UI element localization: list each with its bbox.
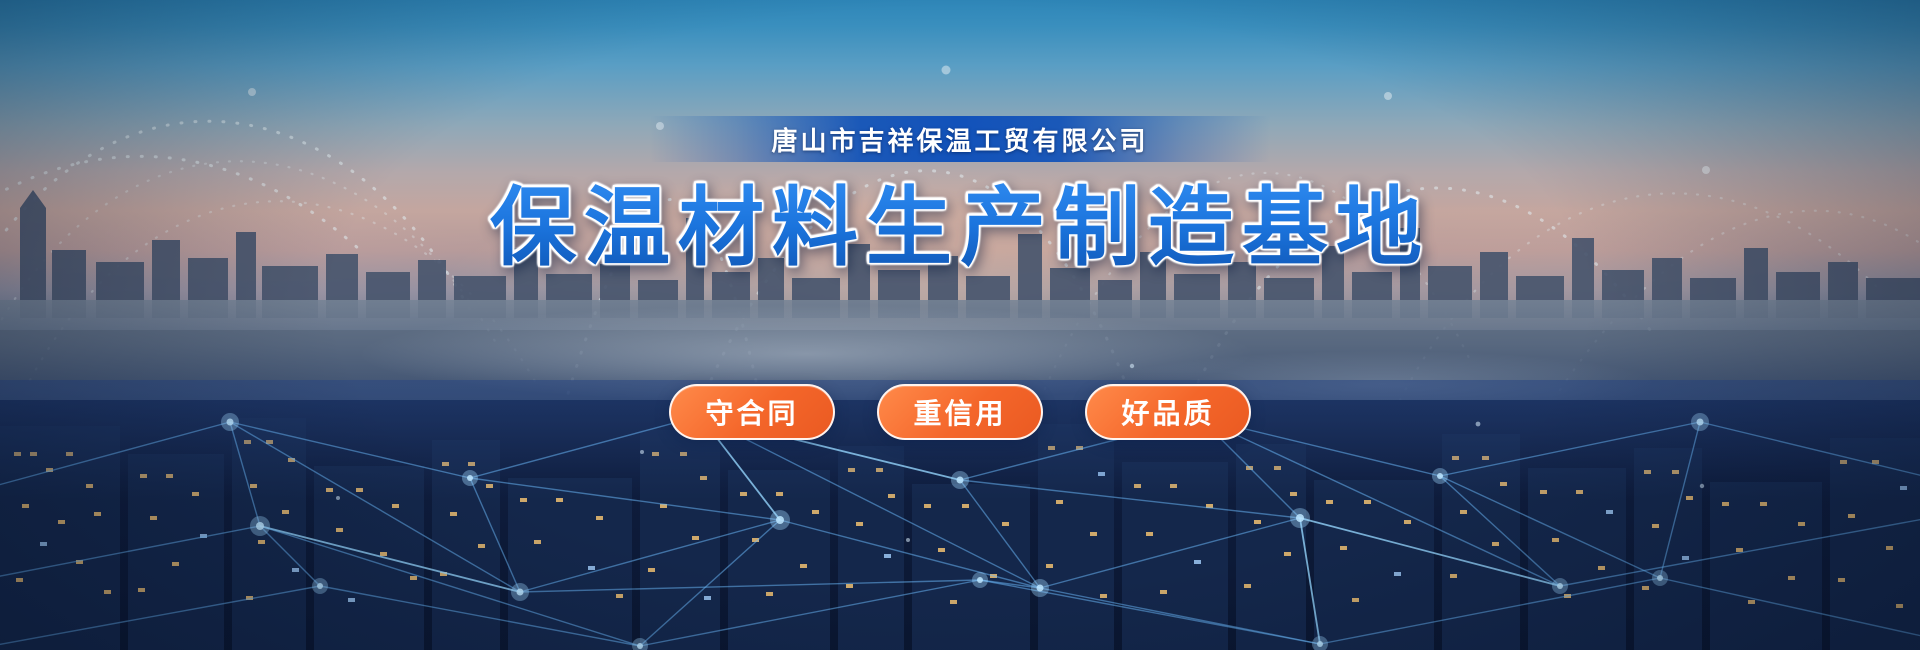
badge-shou-he-tong[interactable]: 守合同: [669, 384, 835, 440]
badge-group: 守合同 重信用 好品质: [669, 384, 1251, 440]
page-title: 保温材料生产制造基地: [480, 176, 1440, 280]
hero-banner: 唐山市吉祥保温工贸有限公司 保温材料生产制造基地 守合同 重信用 好品质: [0, 0, 1920, 650]
badge-hao-pin-zhi[interactable]: 好品质: [1085, 384, 1251, 440]
banner-content: 唐山市吉祥保温工贸有限公司 保温材料生产制造基地 守合同 重信用 好品质: [0, 0, 1920, 650]
badge-zhong-xin-yong[interactable]: 重信用: [877, 384, 1043, 440]
company-name-bar: 唐山市吉祥保温工贸有限公司: [650, 116, 1270, 162]
company-name: 唐山市吉祥保温工贸有限公司: [771, 121, 1148, 158]
